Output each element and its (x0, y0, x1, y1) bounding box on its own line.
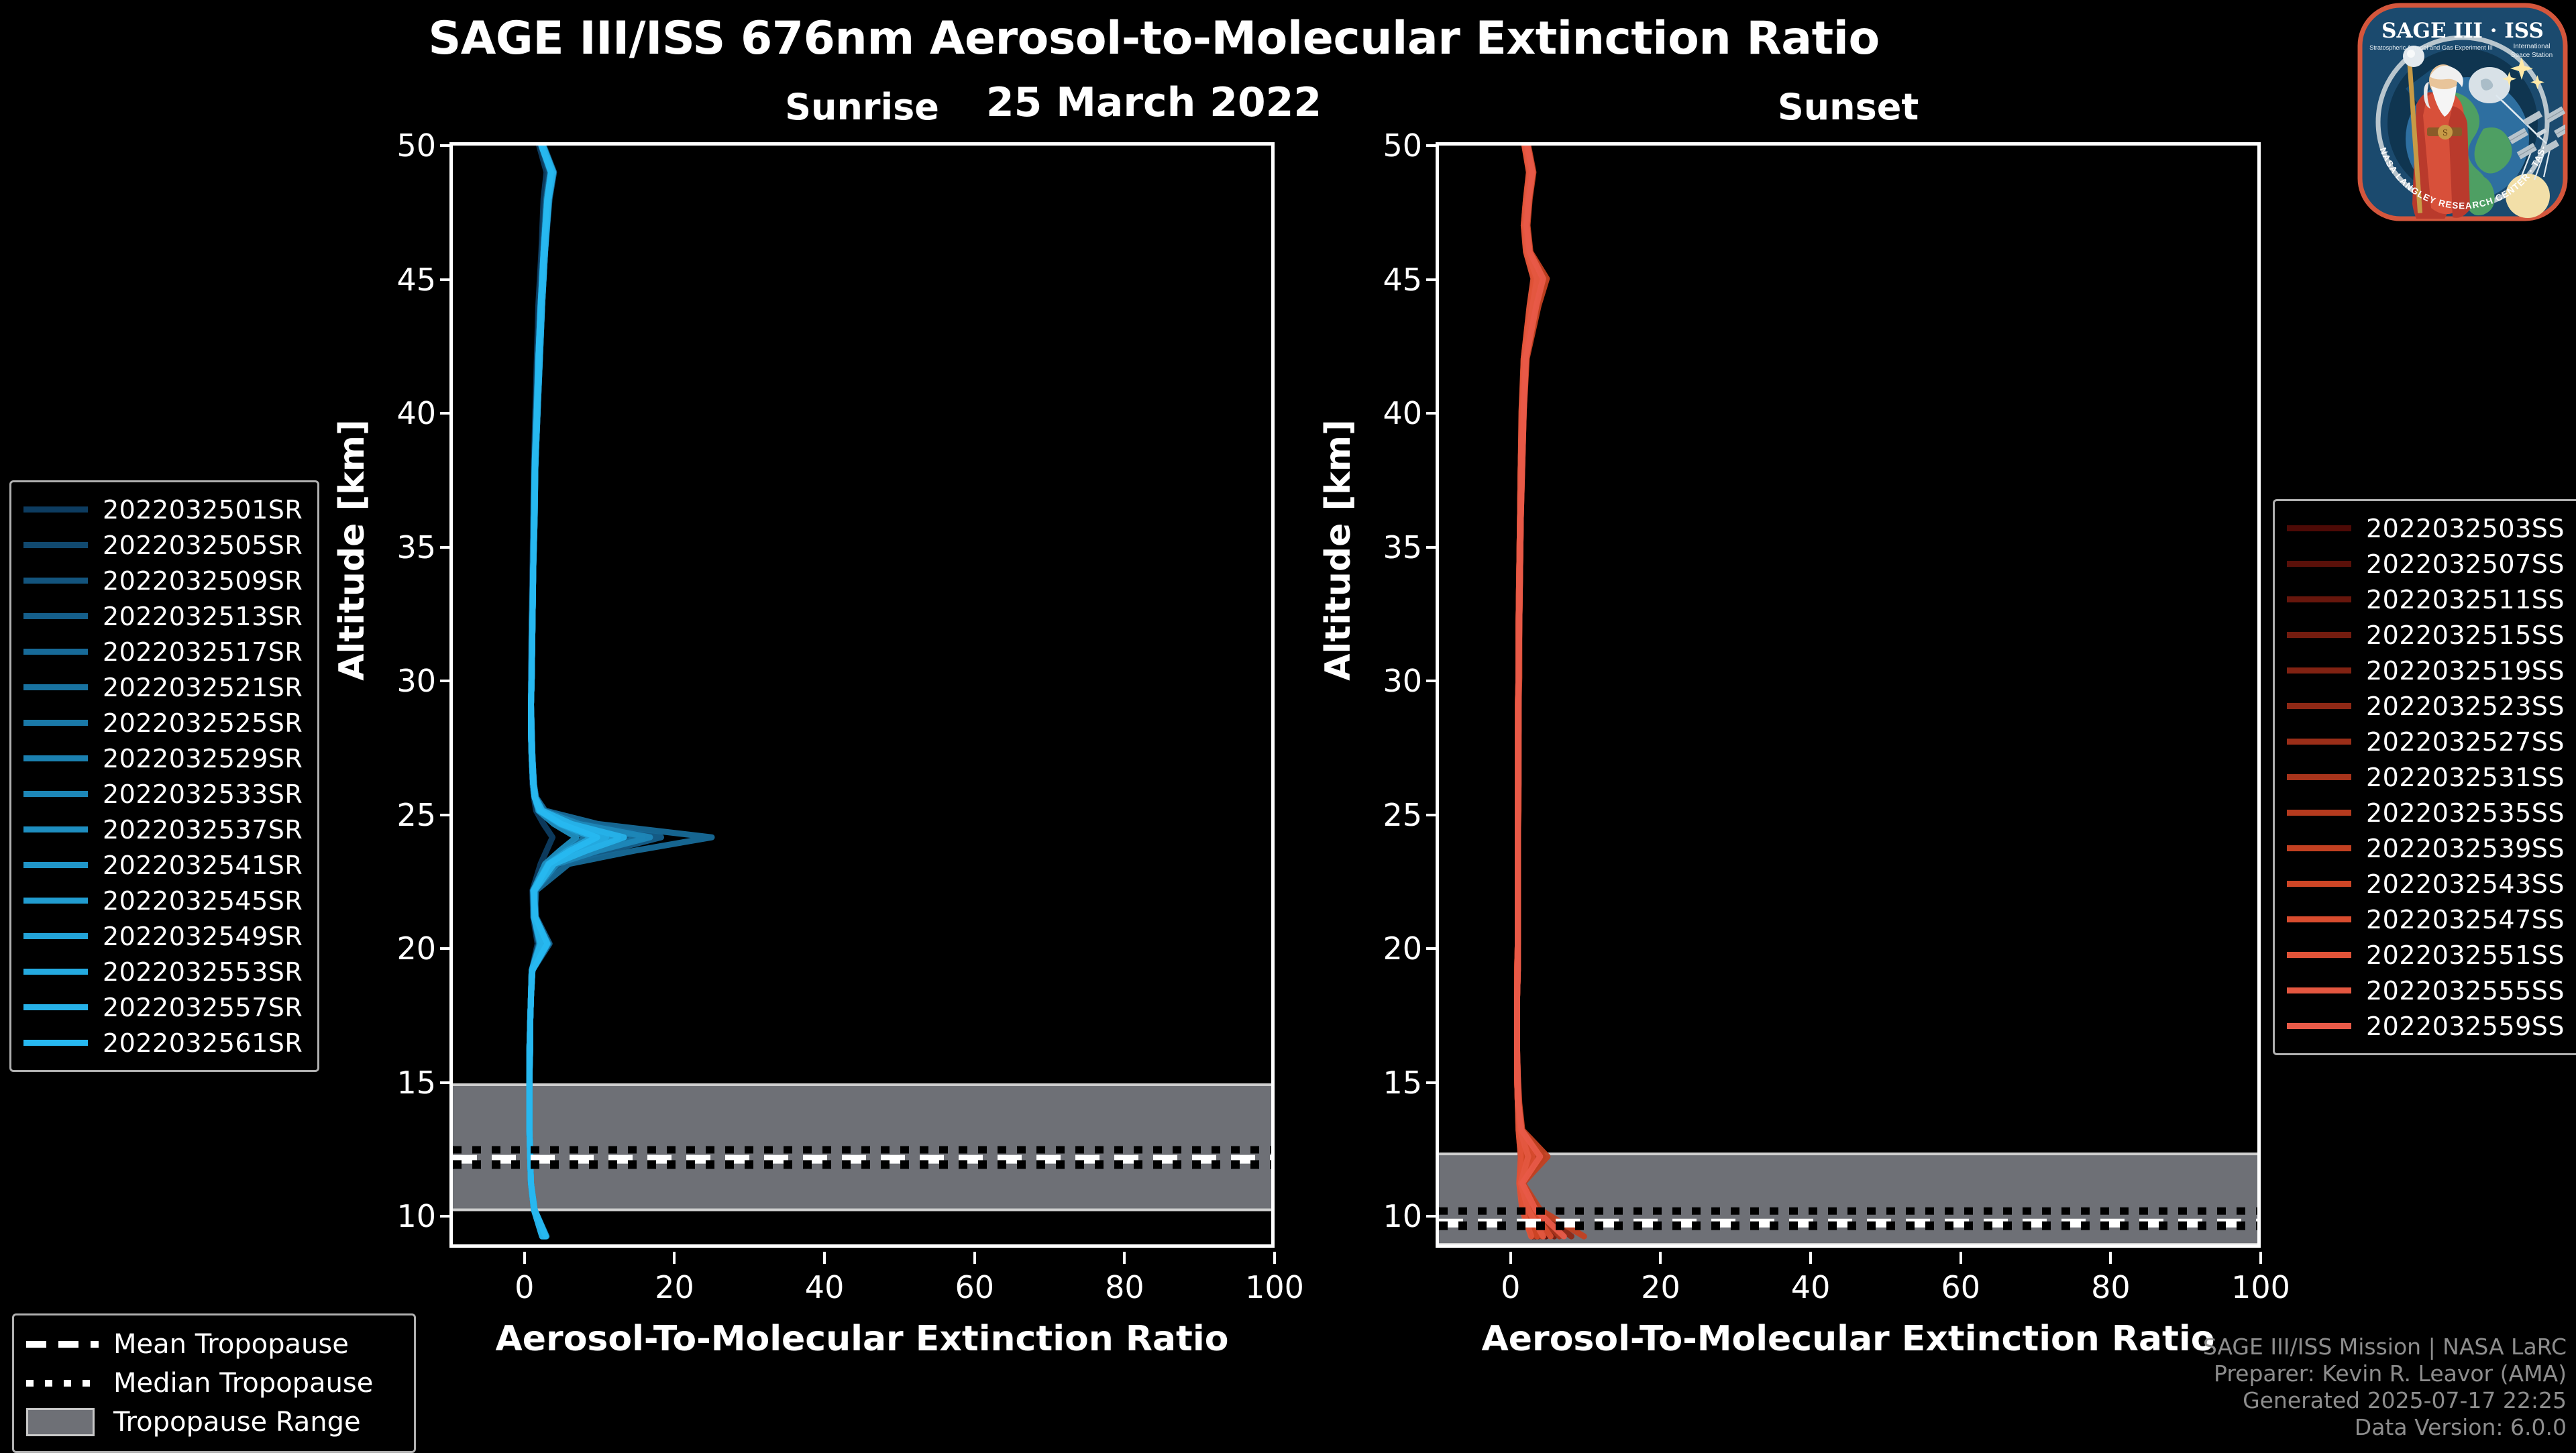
legend-label: 2022032503SS (2366, 514, 2565, 543)
sunrise-panel-title: Sunrise (449, 86, 1275, 128)
y-tick-mark (440, 1081, 452, 1084)
sage3-iss-mission-patch-logo: S SAGE III · ISS Stratospheric Aerosol a… (2352, 1, 2573, 223)
legend-label: 2022032533SR (103, 779, 303, 809)
legend-item[interactable]: 2022032503SS (2287, 510, 2569, 546)
logo-subtitle-right-2: Space Station (2511, 52, 2553, 59)
legend-color-swatch (2287, 596, 2351, 602)
legend-color-swatch (23, 826, 88, 832)
legend-color-swatch (2287, 739, 2351, 745)
legend-color-swatch (2287, 881, 2351, 887)
x-tick-label: 20 (655, 1269, 694, 1305)
legend-item[interactable]: 2022032557SR (23, 989, 305, 1025)
legend-label: 2022032559SS (2366, 1012, 2565, 1041)
logo-title: SAGE III · ISS (2381, 19, 2544, 43)
y-tick-mark (1426, 814, 1438, 816)
x-tick-mark (1960, 1252, 1962, 1264)
attribution-line-mission: SAGE III/ISS Mission | NASA LaRC (2203, 1334, 2567, 1360)
y-tick-mark (440, 947, 452, 950)
sunrise-plot-area (449, 142, 1275, 1248)
x-tick-mark (1659, 1252, 1662, 1264)
legend-item[interactable]: 2022032547SS (2287, 902, 2569, 937)
legend-item-tropopause-range: Tropopause Range (26, 1403, 402, 1442)
legend-item[interactable]: 2022032515SS (2287, 617, 2569, 653)
legend-color-swatch (23, 720, 88, 726)
legend-item[interactable]: 2022032501SR (23, 492, 305, 527)
sunset-profile-lines (1439, 146, 2257, 1244)
legend-item[interactable]: 2022032537SR (23, 812, 305, 847)
legend-label: 2022032511SS (2366, 585, 2565, 614)
y-tick-label: 25 (1335, 797, 1422, 833)
y-tick-label: 20 (349, 930, 436, 967)
legend-color-swatch (2287, 667, 2351, 674)
y-tick-label: 45 (1335, 262, 1422, 298)
legend-label: 2022032543SS (2366, 869, 2565, 899)
legend-item[interactable]: 2022032511SS (2287, 582, 2569, 617)
legend-label: 2022032549SR (103, 922, 303, 951)
sunrise-x-axis-ticks: 020406080100 (449, 1252, 1275, 1312)
x-tick-label: 80 (2091, 1269, 2131, 1305)
legend-label: 2022032539SS (2366, 834, 2565, 863)
x-tick-mark (1123, 1252, 1126, 1264)
y-tick-mark (1426, 947, 1438, 950)
y-tick-mark (440, 680, 452, 682)
legend-item[interactable]: 2022032507SS (2287, 546, 2569, 582)
tropopause-legend: Mean Tropopause Median Tropopause Tropop… (12, 1313, 416, 1453)
y-tick-label: 15 (349, 1065, 436, 1101)
y-tick-mark (440, 814, 452, 816)
legend-item[interactable]: 2022032505SR (23, 527, 305, 563)
y-tick-label: 50 (1335, 127, 1422, 164)
legend-item[interactable]: 2022032521SR (23, 669, 305, 705)
legend-color-swatch (2287, 1023, 2351, 1029)
x-tick-mark (523, 1252, 526, 1264)
legend-color-swatch (2287, 525, 2351, 531)
legend-label: 2022032537SR (103, 815, 303, 845)
legend-label: Mean Tropopause (113, 1329, 349, 1360)
dashed-line-icon (26, 1334, 99, 1354)
profile-line (1517, 146, 1572, 1236)
legend-label: 2022032531SS (2366, 763, 2565, 792)
legend-item[interactable]: 2022032525SR (23, 705, 305, 741)
profile-line (529, 146, 712, 1236)
legend-color-swatch (2287, 561, 2351, 567)
x-tick-label: 40 (805, 1269, 845, 1305)
legend-item[interactable]: 2022032545SR (23, 883, 305, 918)
legend-item[interactable]: 2022032517SR (23, 634, 305, 669)
y-tick-label: 10 (1335, 1198, 1422, 1234)
sunset-plot-area (1436, 142, 2261, 1248)
legend-color-swatch (2287, 916, 2351, 922)
legend-label: 2022032545SR (103, 886, 303, 916)
x-tick-mark (973, 1252, 976, 1264)
legend-color-swatch (2287, 810, 2351, 816)
legend-color-swatch (23, 862, 88, 868)
x-tick-mark (1273, 1252, 1276, 1264)
legend-item[interactable]: 2022032541SR (23, 847, 305, 883)
legend-label: 2022032561SR (103, 1028, 303, 1058)
legend-item[interactable]: 2022032523SS (2287, 688, 2569, 724)
legend-color-swatch (23, 613, 88, 619)
page-title: SAGE III/ISS 676nm Aerosol-to-Molecular … (0, 12, 2308, 65)
legend-label: 2022032509SR (103, 566, 303, 596)
legend-color-swatch (2287, 987, 2351, 993)
sunrise-profile-lines (453, 146, 1271, 1244)
profile-line (529, 146, 597, 1236)
x-tick-label: 60 (955, 1269, 994, 1305)
y-tick-mark (440, 144, 452, 147)
svg-text:S: S (2443, 128, 2448, 138)
legend-color-swatch (23, 755, 88, 761)
sunset-x-axis-ticks: 020406080100 (1436, 1252, 2261, 1312)
legend-color-swatch (23, 542, 88, 548)
legend-item[interactable]: 2022032529SR (23, 741, 305, 776)
legend-item[interactable]: 2022032509SR (23, 563, 305, 598)
legend-item[interactable]: 2022032531SS (2287, 759, 2569, 795)
y-tick-label: 20 (1335, 930, 1422, 967)
legend-label: 2022032555SS (2366, 976, 2565, 1006)
x-tick-label: 0 (1501, 1269, 1520, 1305)
legend-color-swatch (23, 506, 88, 513)
legend-label: 2022032529SR (103, 744, 303, 773)
profile-line (529, 146, 624, 1236)
legend-color-swatch (23, 1004, 88, 1010)
legend-item[interactable]: 2022032551SS (2287, 937, 2569, 973)
legend-label: 2022032513SR (103, 602, 303, 631)
sunset-x-axis-label: Aerosol-To-Molecular Extinction Ratio (1436, 1319, 2261, 1359)
legend-color-swatch (23, 1040, 88, 1046)
legend-label: Median Tropopause (113, 1368, 373, 1399)
x-tick-mark (1509, 1252, 1512, 1264)
sunset-legend[interactable]: 2022032503SS 2022032507SS 2022032511SS 2… (2273, 499, 2576, 1055)
legend-item[interactable]: 2022032527SS (2287, 724, 2569, 759)
attribution-block: SAGE III/ISS Mission | NASA LaRC Prepare… (2203, 1334, 2567, 1441)
legend-label: 2022032535SS (2366, 798, 2565, 828)
legend-item[interactable]: 2022032549SR (23, 918, 305, 954)
y-tick-mark (1426, 1215, 1438, 1218)
x-tick-label: 60 (1941, 1269, 1980, 1305)
y-tick-mark (1426, 1081, 1438, 1084)
x-tick-label: 100 (2231, 1269, 2290, 1305)
legend-color-swatch (23, 791, 88, 797)
legend-item[interactable]: 2022032535SS (2287, 795, 2569, 830)
legend-label: 2022032547SS (2366, 905, 2565, 934)
profile-line (529, 146, 661, 1236)
legend-color-swatch (23, 969, 88, 975)
legend-label: 2022032551SS (2366, 940, 2565, 970)
legend-item[interactable]: 2022032553SR (23, 954, 305, 989)
legend-label: 2022032517SR (103, 637, 303, 667)
y-tick-mark (1426, 278, 1438, 281)
legend-item[interactable]: 2022032561SR (23, 1025, 305, 1061)
legend-item[interactable]: 2022032555SS (2287, 973, 2569, 1008)
sunrise-legend[interactable]: 2022032501SR 2022032505SR 2022032509SR 2… (9, 480, 319, 1072)
dotted-line-icon (26, 1373, 99, 1393)
legend-label: 2022032527SS (2366, 727, 2565, 757)
x-tick-label: 0 (515, 1269, 534, 1305)
gray-patch-icon (26, 1412, 99, 1432)
y-tick-mark (1426, 680, 1438, 682)
sunrise-y-axis-label: Altitude [km] (332, 382, 372, 718)
x-tick-label: 100 (1245, 1269, 1304, 1305)
y-tick-label: 45 (349, 262, 436, 298)
sunset-panel-title: Sunset (1436, 86, 2261, 128)
legend-item[interactable]: 2022032543SS (2287, 866, 2569, 902)
x-tick-label: 40 (1791, 1269, 1831, 1305)
x-tick-label: 80 (1105, 1269, 1144, 1305)
y-tick-mark (440, 1215, 452, 1218)
x-tick-mark (673, 1252, 676, 1264)
legend-label: 2022032525SR (103, 708, 303, 738)
legend-label: Tropopause Range (113, 1407, 361, 1438)
legend-color-swatch (23, 649, 88, 655)
legend-item-mean-tropopause: Mean Tropopause (26, 1325, 402, 1364)
legend-item[interactable]: 2022032519SS (2287, 653, 2569, 688)
y-tick-mark (440, 278, 452, 281)
legend-color-swatch (2287, 845, 2351, 851)
x-tick-label: 20 (1641, 1269, 1680, 1305)
x-tick-mark (2259, 1252, 2262, 1264)
legend-color-swatch (23, 933, 88, 939)
legend-label: 2022032515SS (2366, 621, 2565, 650)
logo-subtitle-left: Stratospheric Aerosol and Gas Experiment… (2369, 44, 2493, 51)
legend-color-swatch (2287, 952, 2351, 958)
legend-label: 2022032521SR (103, 673, 303, 702)
sunset-y-axis-label: Altitude [km] (1318, 382, 1358, 718)
legend-color-swatch (23, 898, 88, 904)
legend-item[interactable]: 2022032539SS (2287, 830, 2569, 866)
legend-color-swatch (2287, 703, 2351, 709)
y-tick-mark (440, 412, 452, 415)
legend-color-swatch (23, 684, 88, 690)
y-tick-label: 25 (349, 797, 436, 833)
y-tick-mark (1426, 546, 1438, 549)
profile-line (529, 146, 650, 1236)
x-tick-mark (2109, 1252, 2112, 1264)
y-tick-label: 15 (1335, 1065, 1422, 1101)
legend-label: 2022032541SR (103, 851, 303, 880)
legend-label: 2022032557SR (103, 993, 303, 1022)
y-tick-label: 10 (349, 1198, 436, 1234)
y-tick-mark (1426, 412, 1438, 415)
legend-label: 2022032523SS (2366, 692, 2565, 721)
legend-label: 2022032519SS (2366, 656, 2565, 686)
legend-label: 2022032553SR (103, 957, 303, 987)
logo-subtitle-right-1: International (2513, 43, 2550, 50)
legend-color-swatch (23, 578, 88, 584)
y-tick-mark (440, 546, 452, 549)
legend-label: 2022032507SS (2366, 549, 2565, 579)
profile-line (529, 146, 643, 1236)
attribution-line-preparer: Preparer: Kevin R. Leavor (AMA) (2203, 1360, 2567, 1387)
attribution-line-version: Data Version: 6.0.0 (2203, 1414, 2567, 1441)
legend-item-median-tropopause: Median Tropopause (26, 1364, 402, 1403)
y-tick-mark (1426, 144, 1438, 147)
legend-color-swatch (2287, 632, 2351, 638)
x-tick-mark (1809, 1252, 1812, 1264)
legend-item[interactable]: 2022032533SR (23, 776, 305, 812)
legend-item[interactable]: 2022032513SR (23, 598, 305, 634)
sunrise-x-axis-label: Aerosol-To-Molecular Extinction Ratio (449, 1319, 1275, 1359)
legend-color-swatch (2287, 774, 2351, 780)
y-tick-label: 50 (349, 127, 436, 164)
x-tick-mark (823, 1252, 826, 1264)
legend-item[interactable]: 2022032559SS (2287, 1008, 2569, 1044)
legend-label: 2022032505SR (103, 531, 303, 560)
attribution-line-generated: Generated 2025-07-17 22:25 (2203, 1387, 2567, 1414)
legend-label: 2022032501SR (103, 495, 303, 525)
